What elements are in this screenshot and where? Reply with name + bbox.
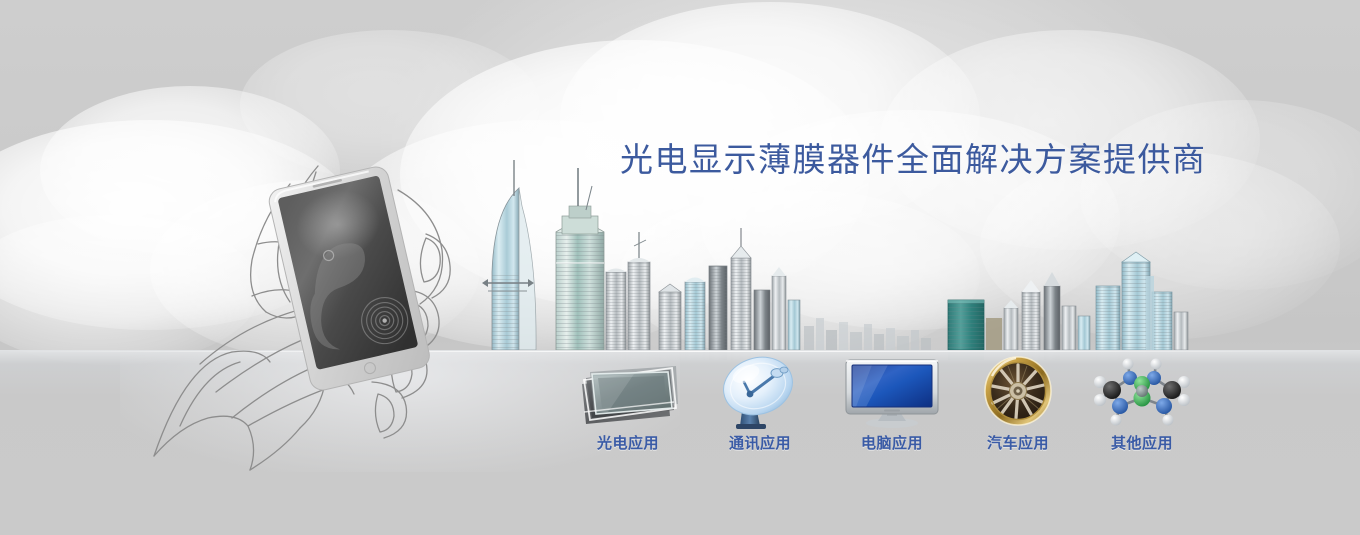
application-item-optoelectronic[interactable]: 光电应用 — [568, 352, 688, 462]
application-label: 光电应用 — [568, 432, 688, 453]
application-item-automotive[interactable]: 汽车应用 — [958, 352, 1078, 462]
application-list: 光电应用 — [560, 352, 1220, 462]
application-item-other[interactable]: 其他应用 — [1082, 352, 1202, 462]
application-item-communication[interactable]: 通讯应用 — [700, 352, 820, 462]
mid-cluster — [659, 228, 800, 350]
twin-towers — [606, 232, 650, 350]
application-label: 其他应用 — [1082, 432, 1202, 453]
satellite-dish-icon — [700, 352, 820, 430]
smartphone — [267, 164, 432, 392]
computer-monitor-icon — [832, 352, 952, 430]
main-tower — [556, 168, 604, 350]
application-label: 通讯应用 — [700, 432, 820, 453]
application-label: 电脑应用 — [832, 432, 952, 453]
page-title: 光电显示薄膜器件全面解决方案提供商 — [620, 140, 1207, 180]
hand-holding-smartphone-sketch — [140, 126, 480, 496]
molecule-model-icon — [1082, 352, 1202, 430]
right-cluster — [948, 252, 1188, 350]
glass-film-panels-icon — [568, 352, 688, 430]
application-item-computer[interactable]: 电脑应用 — [832, 352, 952, 462]
hero-banner: 光电显示薄膜器件全面解决方案提供商 — [0, 0, 1360, 535]
sail-tower — [482, 160, 536, 350]
alloy-wheel-icon — [958, 352, 1078, 430]
application-label: 汽车应用 — [958, 432, 1078, 453]
distant-skyline — [804, 318, 931, 350]
